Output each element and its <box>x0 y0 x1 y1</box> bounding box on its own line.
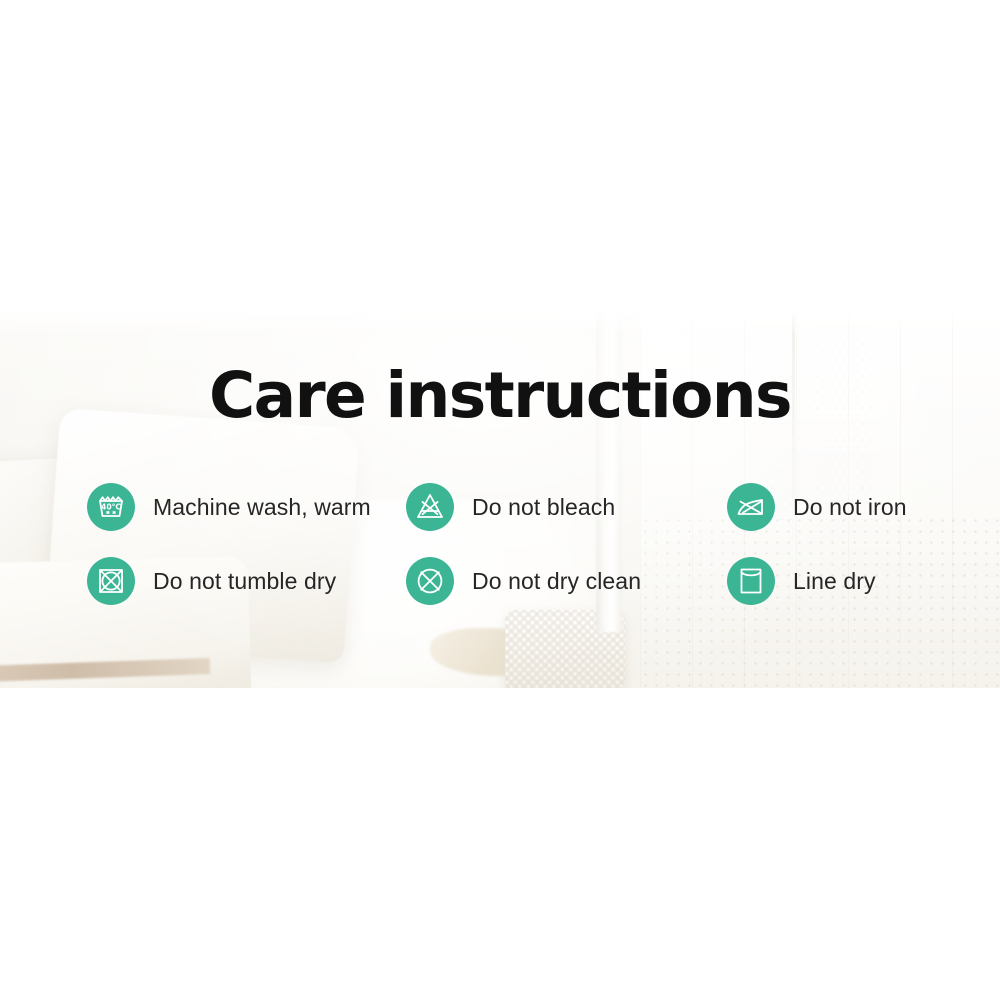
care-item-do-not-tumble-dry: Do not tumble dry <box>87 557 336 605</box>
care-item-do-not-dry-clean: Do not dry clean <box>406 557 641 605</box>
svg-text:40°C: 40°C <box>101 502 121 511</box>
care-item-label: Do not tumble dry <box>153 568 336 595</box>
care-item-line-dry: Line dry <box>727 557 876 605</box>
care-instructions-banner: Care instructions 40°C <box>0 0 1000 1000</box>
care-instructions-grid: 40°C Machine wash, warm <box>0 483 1000 631</box>
do-not-dry-clean-icon <box>406 557 454 605</box>
care-item-do-not-iron: Do not iron <box>727 483 907 531</box>
do-not-tumble-dry-icon <box>87 557 135 605</box>
do-not-bleach-icon <box>406 483 454 531</box>
care-item-label: Line dry <box>793 568 876 595</box>
care-item-label: Do not bleach <box>472 494 615 521</box>
do-not-iron-icon <box>727 483 775 531</box>
page-title: Care instructions <box>0 364 1000 427</box>
care-item-label: Do not iron <box>793 494 907 521</box>
care-row-1: 40°C Machine wash, warm <box>0 483 1000 557</box>
care-item-machine-wash-warm: 40°C Machine wash, warm <box>87 483 371 531</box>
banner-content: Care instructions 40°C <box>0 0 1000 1000</box>
machine-wash-warm-icon: 40°C <box>87 483 135 531</box>
care-item-label: Machine wash, warm <box>153 494 371 521</box>
line-dry-icon <box>727 557 775 605</box>
care-item-label: Do not dry clean <box>472 568 641 595</box>
care-row-2: Do not tumble dry Do not dry clean <box>0 557 1000 631</box>
care-item-do-not-bleach: Do not bleach <box>406 483 615 531</box>
